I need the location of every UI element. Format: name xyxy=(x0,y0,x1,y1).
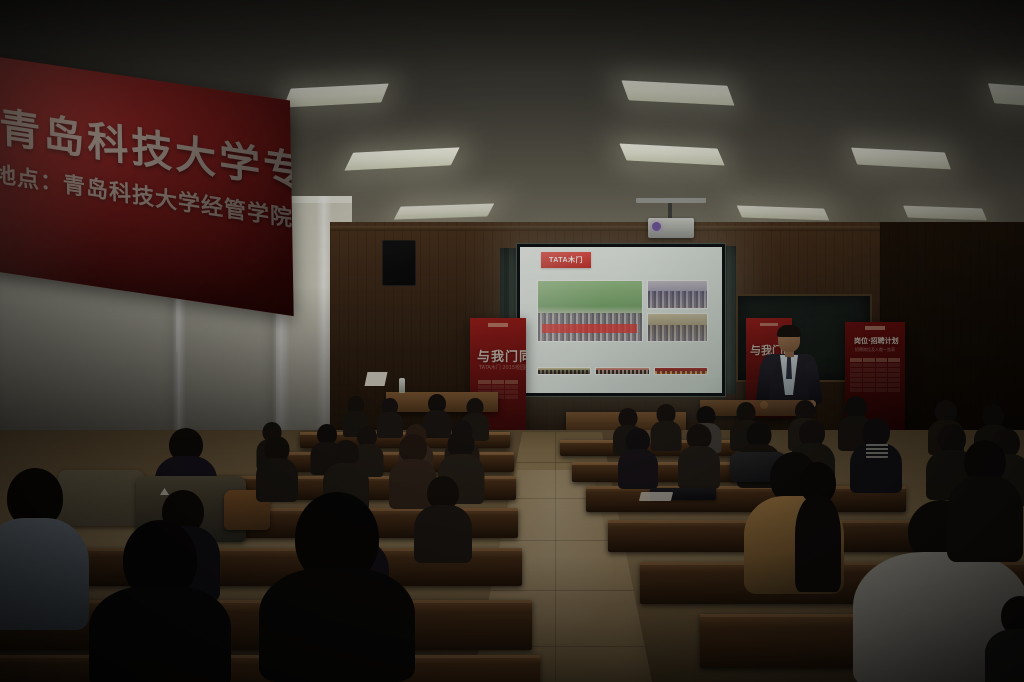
audience-person xyxy=(952,440,1018,560)
audience-person xyxy=(680,424,718,488)
lecture-hall-photo: TATA木门 xyxy=(0,0,1024,682)
notebook-on-desk[interactable] xyxy=(639,492,673,501)
audience-person xyxy=(652,404,680,450)
audience-person-denim xyxy=(0,468,80,628)
overhead-red-banner: 青岛科技大学专场招聘会 地点：青岛科技大学经管学院经管楼419 xyxy=(0,55,294,316)
presenter-hair xyxy=(777,325,801,337)
water-bottle[interactable] xyxy=(399,378,405,393)
banner-subtitle: 地点：青岛科技大学经管学院经管楼419 xyxy=(0,156,294,233)
banner-shading xyxy=(0,55,294,316)
slide-surface: TATA木门 xyxy=(520,247,722,393)
audience-person xyxy=(990,596,1024,682)
audience-person-ponytail xyxy=(790,462,846,590)
banner-title: 青岛科技大学专场招聘会 xyxy=(0,93,290,197)
papers-on-desk[interactable] xyxy=(365,372,388,386)
projector-lens xyxy=(652,222,661,231)
jacket-graphic-print xyxy=(866,444,888,458)
screen-glare xyxy=(520,247,722,393)
audience-person xyxy=(100,520,220,682)
projector-ceiling-plate xyxy=(636,198,706,203)
audience-person xyxy=(272,492,402,680)
audience-person xyxy=(418,476,468,562)
projection-screen: TATA木门 xyxy=(516,243,726,397)
audience-person xyxy=(620,428,656,488)
